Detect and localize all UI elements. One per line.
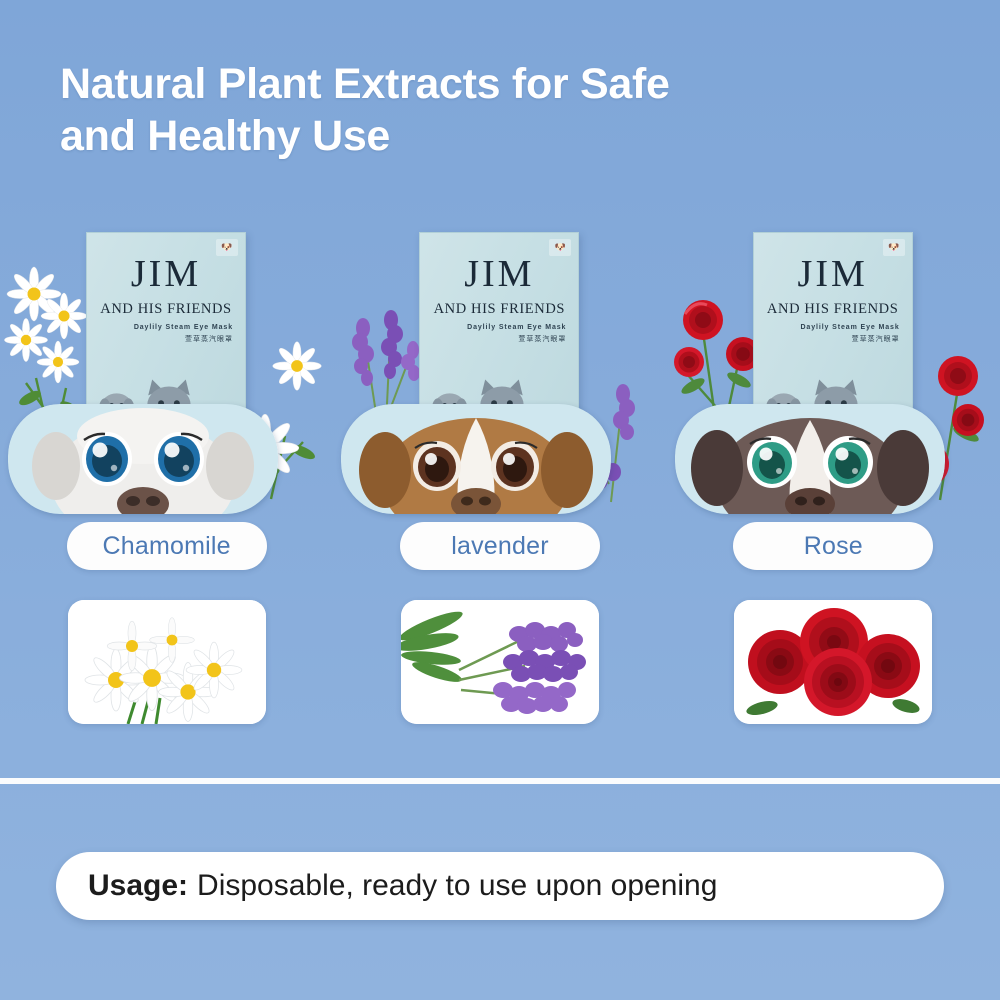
rose-front-center: [804, 648, 872, 716]
brand-logo-icon: 🐶: [883, 239, 905, 256]
box-subtitle-en: Daylily Steam Eye Mask: [467, 324, 566, 331]
rose-bloom-4: [938, 356, 978, 396]
box-subtitle-cn: 萱草蒸汽眼罩: [852, 334, 900, 344]
usage-label: Usage:: [88, 869, 188, 903]
box-subtitle-cn: 萱草蒸汽眼罩: [518, 334, 566, 344]
lavender-spike-3: [401, 341, 420, 381]
mask-left-eye: [82, 432, 132, 486]
ingredient-card-lavender[interactable]: [401, 600, 599, 724]
box-subtitle-en: Daylily Steam Eye Mask: [800, 324, 899, 331]
chamomile-photo: [68, 600, 266, 724]
rose-bloom-3: [674, 347, 704, 377]
product-lavender[interactable]: 🐶 JIM AND HIS FRIENDS Daylily Steam Eye …: [333, 232, 666, 522]
usage-banner: Usage: Disposable, ready to use upon ope…: [56, 852, 944, 920]
usage-text: Disposable, ready to use upon opening: [197, 869, 717, 903]
eye-mask-lavender[interactable]: [341, 404, 611, 514]
eye-mask-chamomile[interactable]: [8, 404, 278, 514]
ingredient-cell-rose: [667, 600, 1000, 724]
brand-logo-icon: 🐶: [549, 239, 571, 256]
brand-logo-icon: 🐶: [216, 239, 238, 256]
rose-photo: [734, 600, 932, 724]
box-tagline: AND HIS FRIENDS: [420, 301, 578, 318]
mask-right-eye: [823, 436, 873, 488]
lavender-spike-2: [381, 310, 403, 379]
scent-label-cell-chamomile: Chamomile: [0, 522, 333, 574]
scent-pill-rose[interactable]: Rose: [733, 522, 933, 570]
product-row: 🐶 JIM AND HIS FRIENDS Daylily Steam Eye …: [0, 232, 1000, 522]
product-chamomile[interactable]: 🐶 JIM AND HIS FRIENDS Daylily Steam Eye …: [0, 232, 333, 522]
box-subtitle-cn: 萱草蒸汽眼罩: [185, 334, 233, 344]
ingredient-cell-lavender: [333, 600, 666, 724]
mask-right-eye: [491, 441, 539, 491]
product-rose[interactable]: 🐶 JIM AND HIS FRIENDS Daylily Steam Eye …: [667, 232, 1000, 522]
mask-right-eye: [154, 432, 204, 486]
rose-bloom-1: [683, 300, 723, 340]
ingredient-card-chamomile[interactable]: [68, 600, 266, 724]
mask-left-eye: [747, 436, 797, 488]
mask-left-eye: [413, 441, 461, 491]
ingredient-cell-chamomile: [0, 600, 333, 724]
box-brand: JIM: [87, 255, 245, 293]
box-subtitle-en: Daylily Steam Eye Mask: [134, 324, 233, 331]
ingredient-card-rose[interactable]: [734, 600, 932, 724]
scent-label-row: Chamomile lavender Rose: [0, 522, 1000, 574]
lavender-photo: [401, 600, 599, 724]
lavender-spike-b: [503, 650, 586, 682]
scent-pill-lavender[interactable]: lavender: [400, 522, 600, 570]
scent-label-cell-lavender: lavender: [333, 522, 666, 574]
box-brand: JIM: [420, 255, 578, 293]
box-tagline: AND HIS FRIENDS: [754, 301, 912, 318]
scent-label-cell-rose: Rose: [667, 522, 1000, 574]
section-divider: [0, 778, 1000, 784]
box-brand: JIM: [754, 255, 912, 293]
lavender-spike-1: [352, 318, 374, 386]
box-tagline: AND HIS FRIENDS: [87, 301, 245, 318]
page-headline: Natural Plant Extracts for Safe and Heal…: [60, 58, 860, 163]
headline-line-1: Natural Plant Extracts for Safe: [60, 58, 860, 110]
eye-mask-rose[interactable]: [675, 404, 945, 514]
rose-bloom-5: [952, 404, 984, 436]
ingredient-card-row: [0, 600, 1000, 724]
headline-line-2: and Healthy Use: [60, 110, 860, 162]
scent-pill-chamomile[interactable]: Chamomile: [67, 522, 267, 570]
